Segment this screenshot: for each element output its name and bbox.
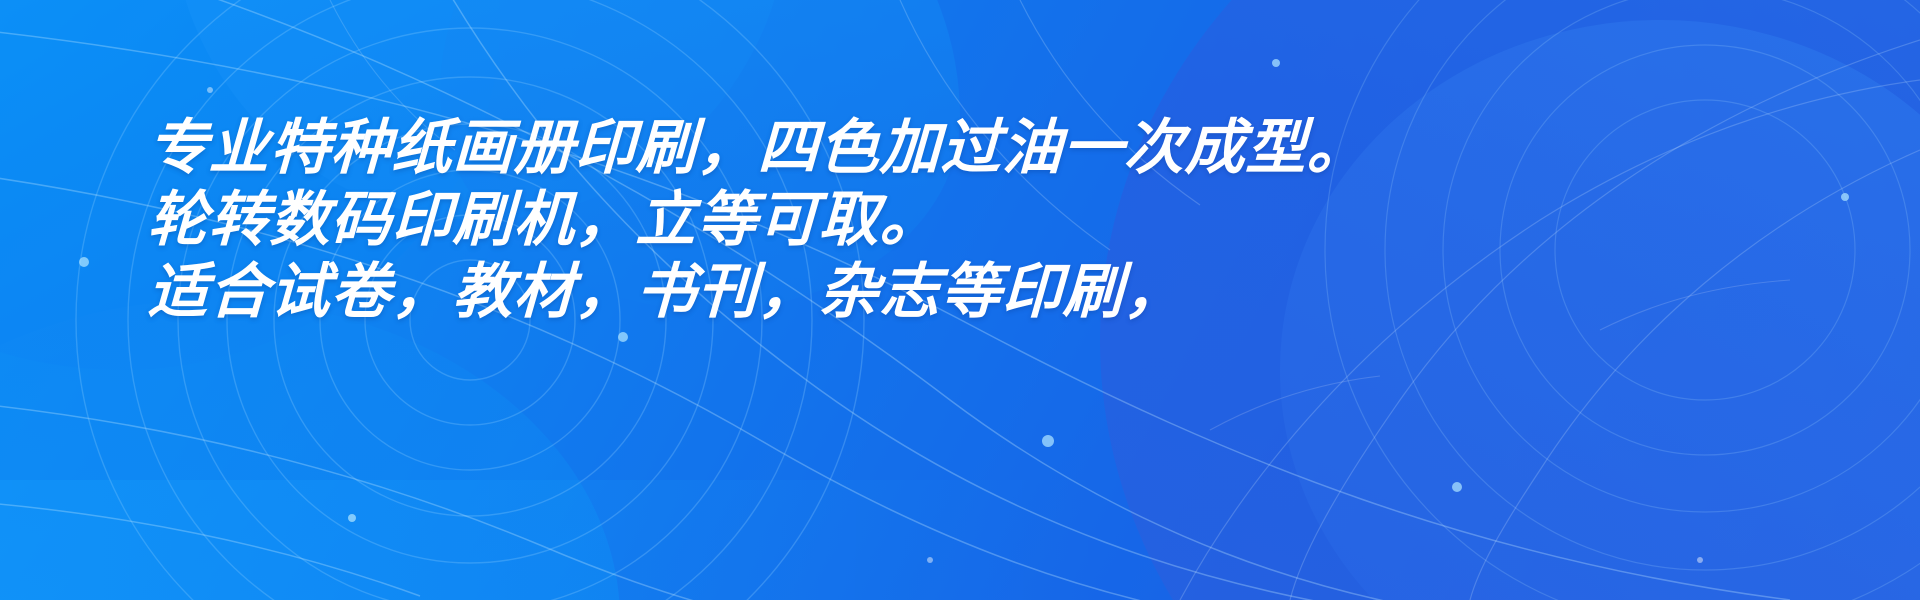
promo-banner: 专业特种纸画册印刷，四色加过油一次成型。 轮转数码印刷机，立等可取。 适合试卷，… — [0, 0, 1920, 600]
headline-line-2: 轮转数码印刷机，立等可取。 — [147, 184, 1370, 256]
headline-block: 专业特种纸画册印刷，四色加过油一次成型。 轮转数码印刷机，立等可取。 适合试卷，… — [148, 112, 1368, 328]
headline-line-3: 适合试卷，教材，书刊，杂志等印刷， — [147, 256, 1370, 328]
headline-line-1: 专业特种纸画册印刷，四色加过油一次成型。 — [147, 112, 1370, 184]
